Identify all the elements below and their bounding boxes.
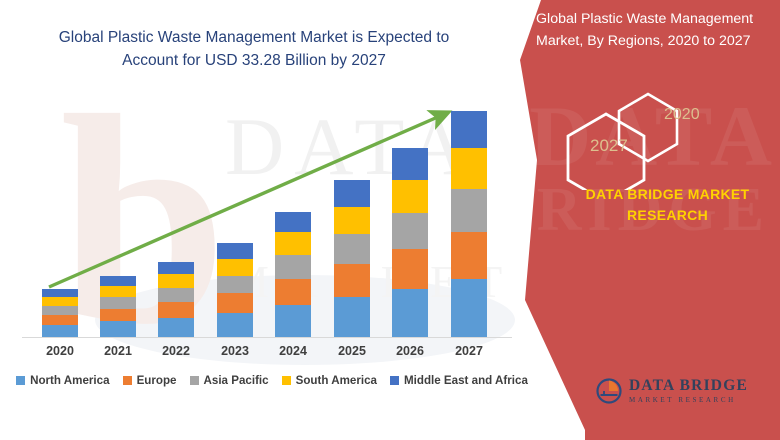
bar-segment: [392, 289, 428, 337]
bar-segment: [334, 264, 370, 297]
bar-segment: [217, 243, 253, 259]
bar-segment: [217, 259, 253, 276]
bar-segment: [158, 302, 194, 318]
bar-2025: [334, 180, 370, 337]
bar-2027: [451, 111, 487, 337]
legend-swatch-icon: [390, 376, 399, 385]
legend-label: Europe: [137, 374, 177, 387]
legend-item-europe[interactable]: Europe: [123, 374, 177, 387]
bar-2023: [217, 243, 253, 337]
x-axis-label-2026: 2026: [380, 344, 440, 358]
bar-2020: [42, 289, 78, 337]
legend-label: South America: [296, 374, 377, 387]
bar-segment: [217, 276, 253, 294]
bar-2021: [100, 276, 136, 337]
stacked-bar-chart: Global Plastic Waste Management Market i…: [0, 0, 530, 440]
x-axis-label-2020: 2020: [30, 344, 90, 358]
chart-legend: North AmericaEuropeAsia PacificSouth Ame…: [22, 374, 522, 387]
bar-segment: [100, 297, 136, 309]
x-axis-label-2021: 2021: [88, 344, 148, 358]
bar-segment: [42, 306, 78, 315]
logo-emblem-icon: [596, 378, 622, 404]
legend-label: Middle East and Africa: [404, 374, 528, 387]
infographic-root: b DATA MARKET Global Plastic Waste Manag…: [0, 0, 780, 440]
bar-segment: [451, 111, 487, 148]
hexagon-2027-label: 2027: [590, 136, 628, 156]
bar-2026: [392, 148, 428, 337]
bar-segment: [217, 293, 253, 313]
x-axis-label-2024: 2024: [263, 344, 323, 358]
bar-segment: [451, 279, 487, 337]
bar-segment: [100, 321, 136, 337]
bar-segment: [42, 297, 78, 306]
bar-segment: [275, 305, 311, 337]
bar-segment: [392, 180, 428, 213]
bar-segment: [100, 276, 136, 286]
bar-segment: [334, 207, 370, 235]
legend-swatch-icon: [123, 376, 132, 385]
bar-segment: [275, 279, 311, 305]
x-axis-label-2025: 2025: [322, 344, 382, 358]
bar-2022: [158, 262, 194, 337]
bar-segment: [334, 234, 370, 264]
bar-segment: [275, 255, 311, 279]
panel-title: Global Plastic Waste Management Market, …: [536, 8, 774, 52]
legend-swatch-icon: [16, 376, 25, 385]
data-bridge-logo: DATA BRIDGE MARKET RESEARCH: [596, 378, 748, 404]
logo-title: DATA BRIDGE: [629, 378, 748, 394]
bar-segment: [275, 212, 311, 232]
legend-item-north-america[interactable]: North America: [16, 374, 109, 387]
bar-segment: [451, 189, 487, 232]
bar-segment: [158, 274, 194, 288]
x-axis-label-2027: 2027: [439, 344, 499, 358]
brand-name: DATA BRIDGE MARKET RESEARCH: [560, 184, 775, 226]
legend-item-middle-east-and-africa[interactable]: Middle East and Africa: [390, 374, 528, 387]
bar-segment: [158, 262, 194, 274]
bar-segment: [392, 148, 428, 180]
bar-segment: [451, 148, 487, 189]
x-axis-label-2022: 2022: [146, 344, 206, 358]
bar-segment: [100, 309, 136, 322]
bar-2024: [275, 212, 311, 337]
bar-segment: [158, 318, 194, 337]
bar-segment: [42, 289, 78, 297]
legend-swatch-icon: [190, 376, 199, 385]
hexagon-2020-label: 2020: [664, 106, 700, 124]
legend-swatch-icon: [282, 376, 291, 385]
bar-segment: [42, 315, 78, 325]
bar-segment: [392, 249, 428, 288]
bar-segment: [451, 232, 487, 280]
bar-segment: [275, 232, 311, 254]
logo-subtitle: MARKET RESEARCH: [629, 397, 748, 404]
bar-segment: [334, 297, 370, 337]
legend-label: North America: [30, 374, 109, 387]
hexagon-group: 2027 2020: [560, 82, 775, 190]
bar-segment: [334, 180, 370, 207]
bar-segment: [42, 325, 78, 337]
x-axis-label-2023: 2023: [205, 344, 265, 358]
legend-label: Asia Pacific: [204, 374, 269, 387]
bar-segment: [217, 313, 253, 337]
bar-segment: [100, 286, 136, 297]
legend-item-south-america[interactable]: South America: [282, 374, 377, 387]
legend-item-asia-pacific[interactable]: Asia Pacific: [190, 374, 269, 387]
bar-segment: [392, 213, 428, 249]
bar-segment: [158, 288, 194, 302]
